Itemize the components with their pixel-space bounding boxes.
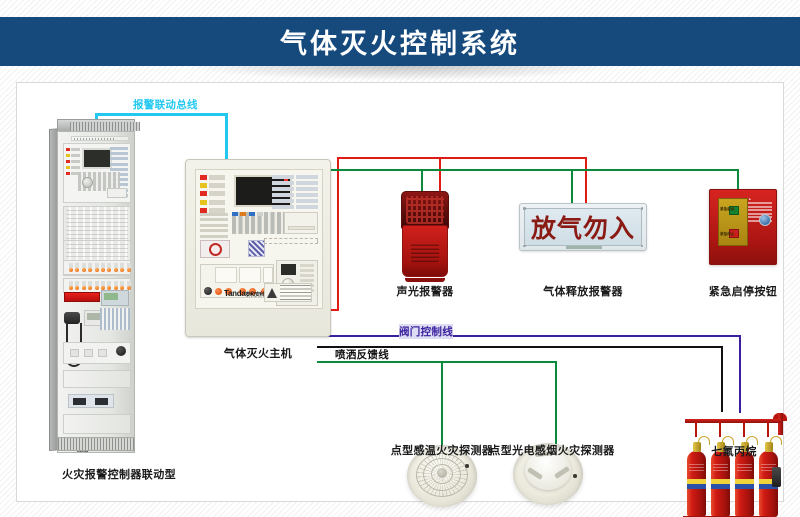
caption-fire-alarm-cabinet: 火灾报警控制器联动型: [39, 466, 199, 482]
wire-detector-loop-horizontal: [317, 361, 557, 363]
device-gas-release-alarm[interactable]: 放气勿入: [519, 203, 647, 251]
gas-host-printer-slot[interactable]: [284, 212, 318, 234]
wire-label-valve-control: 阀门控制线: [399, 324, 453, 339]
caption-gas-extinguishing-host: 气体灭火主机: [193, 345, 323, 361]
page-title: 气体灭火控制系统: [280, 22, 520, 61]
gas-host-module-screen: [281, 264, 296, 275]
cabinet-rotary-switch[interactable]: [116, 346, 126, 356]
emergency-button-key-switch[interactable]: [759, 214, 771, 226]
cabinet-control-face[interactable]: [63, 143, 131, 203]
cylinder-solenoid-actuator: [772, 467, 781, 487]
sign-screw-tr: [641, 207, 644, 210]
wire-red-drop-sign: [585, 157, 587, 205]
wire-alarm-bus-horizontal: [95, 113, 227, 116]
gas-host-face: Tanda泰和安科技: [195, 169, 323, 309]
cabinet-printer-slot[interactable]: [107, 188, 127, 198]
cabinet-base-vent: [57, 437, 135, 451]
gas-host-qr-code: [248, 240, 265, 257]
header-shadow: [190, 66, 610, 80]
caption-gas-release-alarm: 气体释放报警器: [523, 283, 643, 299]
sign-model-tag: [566, 246, 602, 249]
wire-detector-drop-smoke: [555, 361, 557, 445]
cylinder-drop-2: [719, 421, 721, 437]
sign-screw-tl: [523, 207, 526, 210]
cabinet-aux-module[interactable]: [101, 290, 129, 306]
caption-emergency-start-stop-button: 紧急启停按钮: [693, 283, 793, 299]
wire-red-left-riser: [337, 157, 339, 311]
cabinet-relay-row-1[interactable]: [63, 260, 131, 275]
wire-detector-drop-heat: [441, 361, 443, 447]
wire-label-alarm-bus: 报警联动总线: [133, 97, 198, 112]
smoke-detector-led: [573, 474, 577, 478]
diagram-panel: 报警联动总线 阀门控制线 喷洒反馈线: [16, 82, 784, 502]
cylinder-drop-1: [695, 421, 697, 437]
cabinet-nameplate: [71, 136, 129, 141]
caption-point-photoelectric-smoke-detector: 点型光电感烟火灾探测器: [469, 442, 635, 458]
cylinder-bottle-2: [711, 451, 730, 517]
cylinder-bottle-1: [687, 451, 706, 517]
heat-detector-led: [465, 464, 469, 468]
cabinet-power-display: [68, 394, 114, 408]
sound-light-alarm-base: [405, 278, 445, 282]
wire-valve-control-drop: [739, 335, 741, 413]
emergency-start-label: 紧急启动: [720, 207, 734, 212]
gas-host-spec-table: [280, 285, 311, 300]
emergency-warning-icon: ▲: [748, 197, 772, 201]
emergency-stop-label: 紧急停止: [720, 232, 734, 237]
device-emergency-start-stop-button[interactable]: 紧急启动 紧急停止 ▲: [709, 189, 777, 265]
cabinet-lcd-screen: [82, 148, 112, 169]
wire-green-top-bus: [329, 169, 737, 171]
sound-light-alarm-horn: [402, 225, 448, 277]
cylinder-discharge-riser: [778, 413, 783, 435]
device-sound-light-alarm[interactable]: [401, 191, 449, 279]
cabinet-blank-panel-1: [63, 370, 131, 388]
wire-alarm-bus-right-drop: [225, 113, 228, 160]
gas-host-led-strip: [200, 175, 225, 216]
page-header: 气体灭火控制系统: [0, 17, 800, 66]
caption-sound-light-alarm: 声光报警器: [375, 283, 475, 299]
cabinet-body: Tanda: [57, 131, 135, 453]
device-fire-alarm-cabinet[interactable]: Tanda: [49, 119, 135, 454]
cylinder-drop-4: [767, 421, 769, 437]
gas-release-sign-face: 放气勿入: [524, 208, 642, 246]
gas-host-zone-caption-box: [264, 238, 318, 244]
cabinet-vent-slots: [70, 122, 140, 131]
device-heptafluoropropane-cylinders[interactable]: [681, 413, 787, 517]
sound-light-alarm-strobe: [401, 191, 449, 229]
gas-host-brand-label: Tanda泰和安科技: [224, 289, 269, 298]
diagram-canvas: 报警联动总线 阀门控制线 喷洒反馈线: [17, 83, 783, 501]
gas-host-fire-seal-badge: [200, 240, 230, 258]
gas-release-sign-text: 放气勿入: [531, 209, 635, 245]
warning-triangle-icon: [267, 288, 278, 298]
gas-host-status-labels: [200, 213, 228, 240]
cabinet-alarm-bar: [64, 292, 100, 302]
sign-screw-bl: [523, 245, 526, 248]
gas-host-brand-text: Tanda: [224, 289, 245, 298]
wire-red-top-bus: [337, 157, 587, 159]
device-gas-extinguishing-host[interactable]: Tanda泰和安科技: [185, 159, 331, 337]
cabinet-intercom-keys[interactable]: [100, 308, 130, 330]
gas-host-bank-knob[interactable]: [204, 287, 212, 295]
sign-screw-br: [641, 245, 644, 248]
cylinder-bottle-3: [735, 451, 754, 517]
gas-host-zone-indicators: [272, 175, 318, 212]
wire-green-drop-sign: [571, 169, 573, 205]
caption-heptafluoropropane-cylinders: 七氟丙烷: [681, 443, 787, 459]
heat-detector-sensor: [437, 468, 447, 478]
emergency-button-faceplate: 紧急启动 紧急停止: [718, 198, 748, 246]
wire-feedback-drop: [721, 346, 723, 412]
cabinet-blank-panel-2: [63, 414, 131, 434]
wire-label-spray-feedback: 喷洒反馈线: [335, 347, 389, 362]
cabinet-navigation-dial[interactable]: [82, 177, 93, 188]
gas-host-warning-plate: [264, 283, 312, 302]
wire-valve-control-horizontal: [317, 335, 741, 337]
cylinder-drop-3: [743, 421, 745, 437]
